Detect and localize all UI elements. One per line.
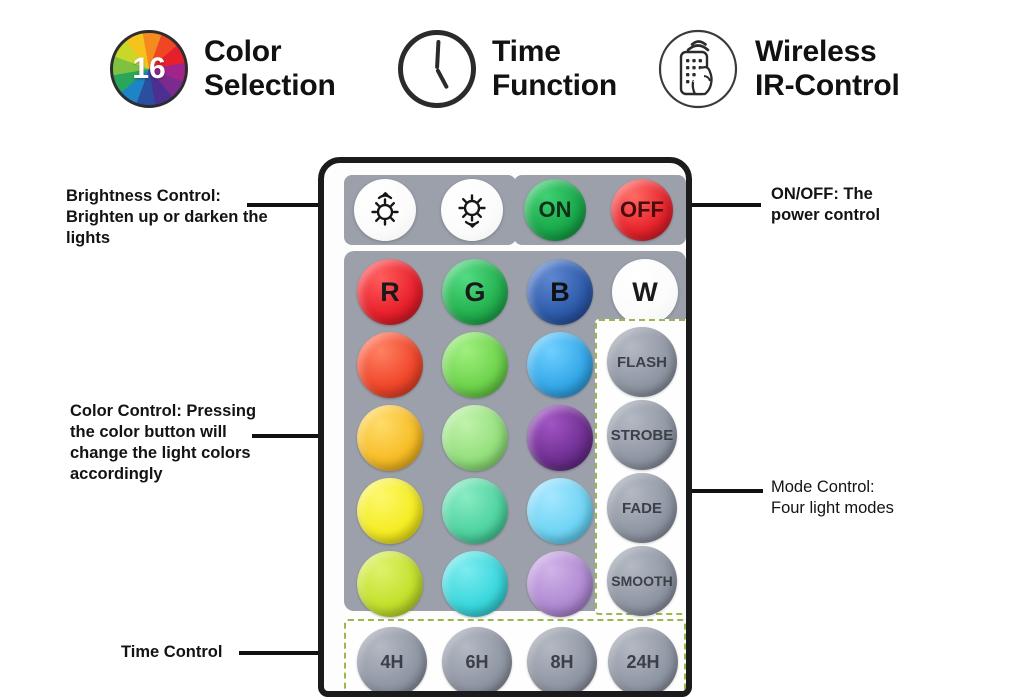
mode-button-strobe-label: STROBE — [611, 427, 674, 444]
color-button-w[interactable]: W — [612, 259, 678, 325]
color-button-g[interactable]: G — [442, 259, 508, 325]
mode-button-smooth[interactable]: SMOOTH — [607, 546, 677, 616]
timer-button-6h-label: 6H — [465, 652, 488, 673]
callout-brightness-control: Brightness Control: Brighten up or darke… — [66, 186, 316, 249]
feature-wireless-ir-control: Wireless IR-Control — [657, 28, 900, 110]
color-swatch-r4c2[interactable] — [442, 551, 508, 617]
mode-button-smooth-label: SMOOTH — [611, 573, 672, 589]
timer-button-8h-label: 8H — [550, 652, 573, 673]
timer-button-4h-label: 4H — [380, 652, 403, 673]
power-on-button[interactable]: ON — [524, 179, 586, 241]
clock-minute-hand — [435, 40, 441, 69]
clock-hour-hand — [435, 68, 449, 89]
color-swatch-r1c2[interactable] — [442, 332, 508, 398]
brightness-up-button[interactable] — [354, 179, 416, 241]
timer-button-24h-label: 24H — [626, 652, 659, 673]
mode-button-fade-label: FADE — [622, 500, 662, 517]
color-swatch-r1c1[interactable] — [357, 332, 423, 398]
feature-color-selection: 16 Color Selection — [110, 30, 336, 108]
timer-button-8h[interactable]: 8H — [527, 627, 597, 697]
color-button-b-label: B — [550, 277, 570, 308]
feature-time-function: Time Function — [398, 30, 617, 108]
color-swatch-r1c3[interactable] — [527, 332, 593, 398]
brightness-down-button[interactable] — [441, 179, 503, 241]
color-swatch-r3c1[interactable] — [357, 478, 423, 544]
wireless-remote-icon — [657, 28, 739, 110]
color-swatch-r4c3[interactable] — [527, 551, 593, 617]
timer-button-4h[interactable]: 4H — [357, 627, 427, 697]
color-swatch-r4c1[interactable] — [357, 551, 423, 617]
color-count-badge: 16 — [113, 52, 185, 86]
sun-up-icon — [365, 190, 405, 230]
power-off-button[interactable]: OFF — [611, 179, 673, 241]
color-swatch-r3c2[interactable] — [442, 478, 508, 544]
mode-button-flash-label: FLASH — [617, 354, 667, 371]
timer-button-6h[interactable]: 6H — [442, 627, 512, 697]
mode-button-flash[interactable]: FLASH — [607, 327, 677, 397]
poster-canvas: 16 Color Selection Time Function — [0, 0, 1024, 683]
color-swatch-r3c3[interactable] — [527, 478, 593, 544]
feature-wireless-ir-control-label: Wireless IR-Control — [755, 35, 900, 102]
color-button-w-label: W — [632, 277, 657, 308]
color-wheel-icon: 16 — [110, 30, 188, 108]
mode-button-strobe[interactable]: STROBE — [607, 400, 677, 470]
color-swatch-r2c1[interactable] — [357, 405, 423, 471]
color-button-r-label: R — [380, 277, 400, 308]
callout-time-control: Time Control — [121, 642, 222, 663]
callout-color-control: Color Control: Pressing the color button… — [70, 401, 300, 485]
remote-control-device: ON OFF R G B W — [318, 157, 692, 697]
color-button-b[interactable]: B — [527, 259, 593, 325]
feature-color-selection-label: Color Selection — [204, 35, 336, 102]
leader-line-brightness — [247, 203, 321, 207]
color-button-g-label: G — [464, 277, 485, 308]
power-off-label: OFF — [620, 197, 664, 223]
color-swatch-r2c2[interactable] — [442, 405, 508, 471]
feature-time-function-label: Time Function — [492, 35, 617, 102]
power-on-label: ON — [539, 197, 572, 223]
color-swatch-r2c3[interactable] — [527, 405, 593, 471]
sun-down-icon — [452, 190, 492, 230]
mode-button-fade[interactable]: FADE — [607, 473, 677, 543]
callout-mode-control: Mode Control: Four light modes — [771, 477, 971, 519]
color-button-r[interactable]: R — [357, 259, 423, 325]
leader-line-power — [689, 203, 761, 207]
timer-button-24h[interactable]: 24H — [608, 627, 678, 697]
callout-power-control: ON/OFF: The power control — [771, 184, 971, 226]
clock-icon — [398, 30, 476, 108]
